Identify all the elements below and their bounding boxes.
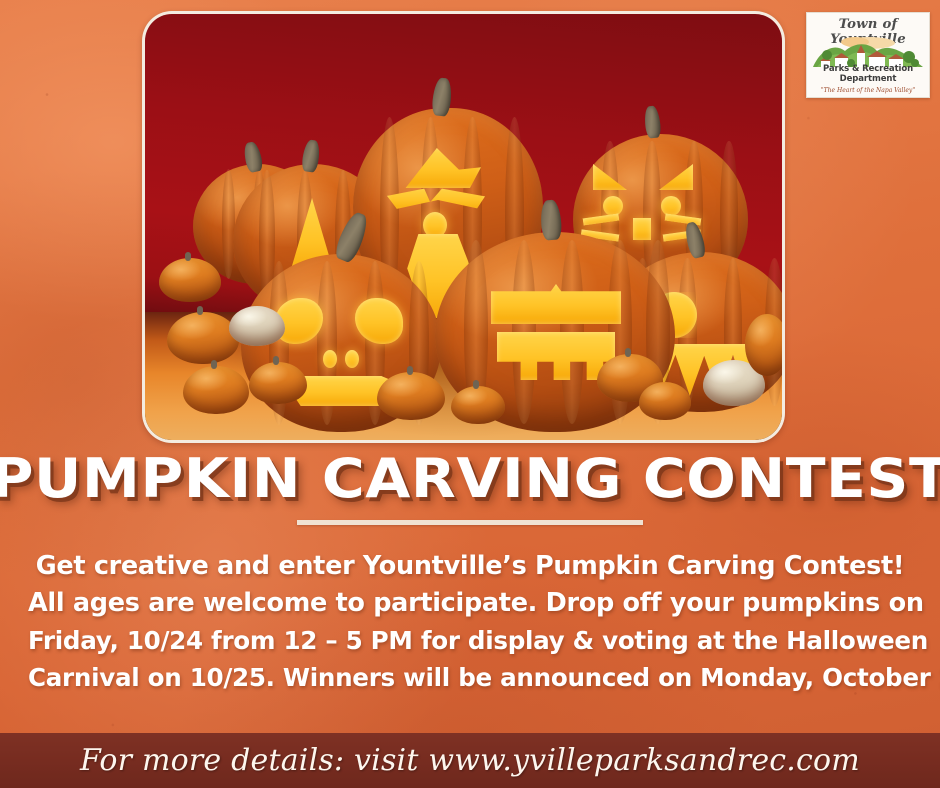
mini-pumpkin [377, 372, 445, 420]
carving-cat-eye-left [603, 196, 623, 216]
body-line: All ages are welcome to participate. Dro… [28, 585, 912, 622]
mini-pumpkin [745, 314, 782, 376]
carving-skull-nostril [323, 350, 337, 368]
mini-pumpkin [451, 386, 505, 424]
pumpkin-stem [185, 252, 191, 261]
carving-castle-eyes [491, 284, 621, 324]
mini-pumpkin [159, 258, 221, 302]
logo-tagline: "The Heart of the Napa Valley" [807, 87, 929, 94]
body-line: Get creative and enter Yountville’s Pump… [28, 548, 912, 585]
poster: Town of Yountville Parks & Recreation De… [0, 0, 940, 788]
pumpkin-stem [540, 199, 563, 240]
mini-pumpkin [639, 382, 691, 420]
pumpkin-stem [273, 356, 279, 365]
logo-department-name: Parks & Recreation Department [807, 64, 929, 84]
carving-cat-whisker [583, 214, 620, 226]
title-divider [297, 520, 643, 525]
mini-pumpkin [249, 362, 307, 404]
details-banner: For more details: visit www.yvilleparksa… [0, 733, 940, 788]
carving-witch-hat [389, 148, 481, 188]
carving-cat-eye-right [661, 196, 681, 216]
pumpkin-stem [625, 348, 631, 357]
body-line: Friday, 10/24 from 12 – 5 PM for display… [28, 622, 912, 659]
pumpkin-photo [145, 14, 782, 440]
page-title: PUMPKIN CARVING CONTEST [0, 451, 940, 507]
mini-pumpkin [167, 312, 239, 364]
body-copy: Get creative and enter Yountville’s Pump… [28, 548, 912, 696]
mini-pumpkin [183, 366, 249, 414]
carving-cat-nose [633, 218, 651, 240]
carving-skull-eye-right [355, 298, 403, 344]
pumpkin-photo-frame [142, 11, 785, 443]
pumpkin-stem [211, 360, 217, 369]
pumpkin-stem [473, 380, 479, 389]
mini-gourd-white [229, 306, 285, 346]
carving-cat-ear-left [593, 164, 627, 190]
pumpkin-stem [643, 105, 661, 138]
body-line: Carnival on 10/25. Winners will be annou… [28, 659, 912, 696]
pumpkin-stem [407, 366, 413, 375]
carving-cat-ear-right [659, 164, 693, 190]
carving-skull-nostril [345, 350, 359, 368]
pumpkin-stem [197, 306, 203, 315]
yountville-parks-logo: Town of Yountville Parks & Recreation De… [806, 12, 930, 98]
details-banner-text: For more details: visit www.yvilleparksa… [80, 743, 860, 778]
carving-witch-eyes [387, 186, 485, 212]
